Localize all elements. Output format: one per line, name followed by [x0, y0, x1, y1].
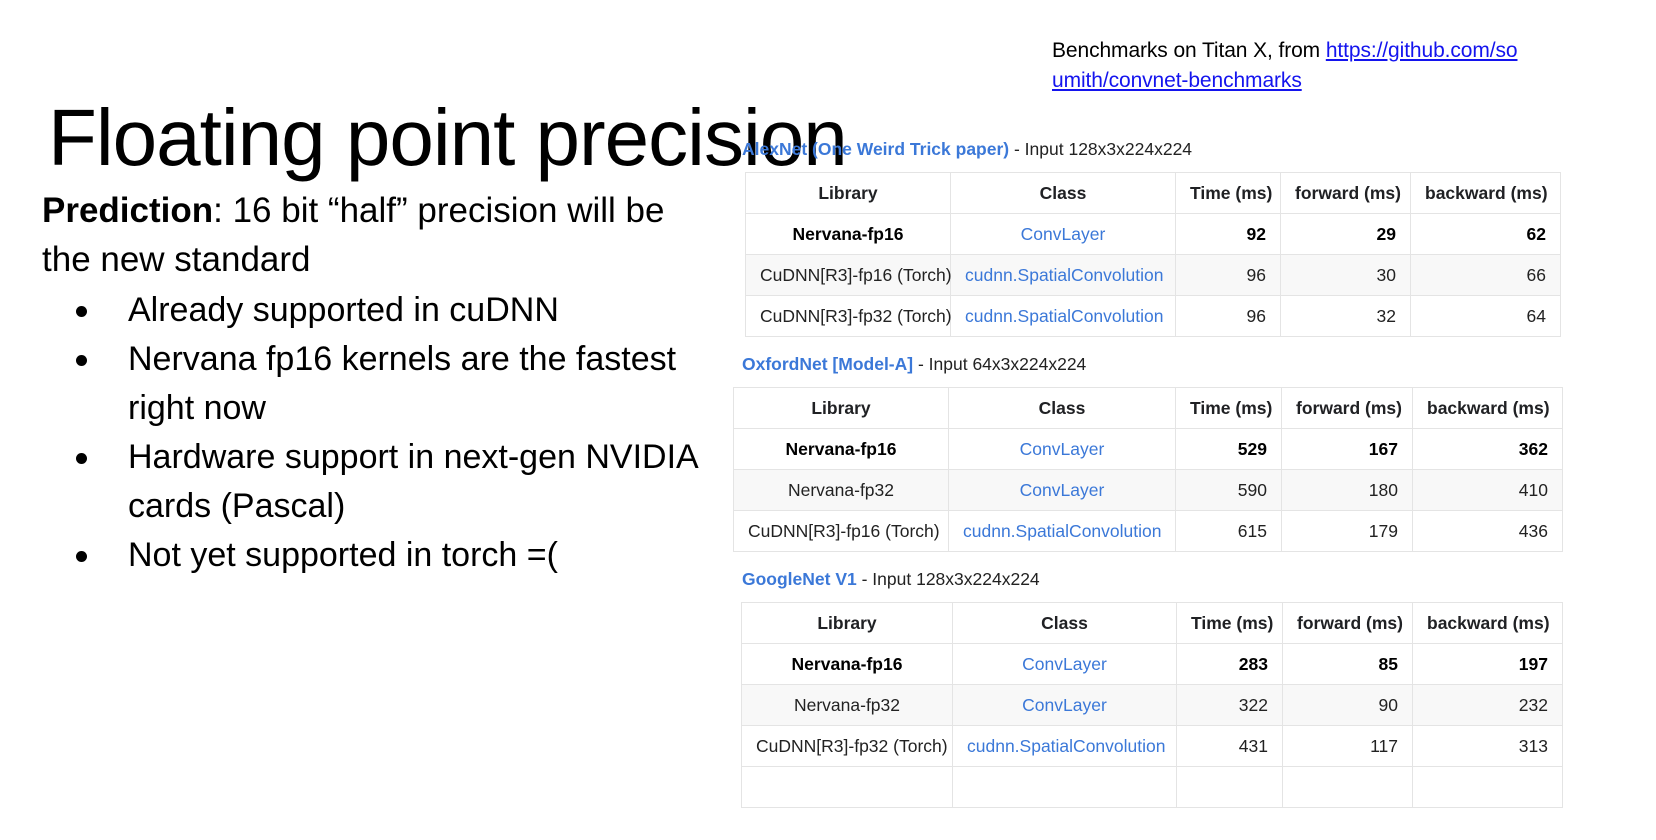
table-row: CuDNN[R3]-fp32 (Torch) cudnn.SpatialConv… — [742, 726, 1563, 767]
table-header-row: Library Class Time (ms) forward (ms) bac… — [734, 388, 1563, 429]
cell-library: Nervana-fp32 — [742, 685, 953, 726]
cell-library: Nervana-fp16 — [734, 429, 949, 470]
cell-class[interactable]: ConvLayer — [953, 685, 1177, 726]
cell-backward: 410 — [1413, 470, 1563, 511]
benchmark-net-name: OxfordNet [Model-A] — [742, 354, 913, 374]
table-row-partial — [742, 767, 1563, 808]
cell-time: 590 — [1176, 470, 1282, 511]
table-row: CuDNN[R3]-fp16 (Torch) cudnn.SpatialConv… — [734, 511, 1563, 552]
cell-backward: 232 — [1413, 685, 1563, 726]
list-item: Nervana fp16 kernels are the fastest rig… — [42, 335, 702, 433]
table-header-row: Library Class Time (ms) forward (ms) bac… — [746, 173, 1561, 214]
cell-forward: 167 — [1282, 429, 1413, 470]
benchmark-table: Library Class Time (ms) forward (ms) bac… — [733, 387, 1563, 552]
benchmark-tables-panel: AlexNet (One Weird Trick paper) - Input … — [725, 138, 1656, 840]
cell-time: 431 — [1177, 726, 1283, 767]
column-header-library: Library — [742, 603, 953, 644]
cell-time: 92 — [1176, 214, 1281, 255]
cell-library: Nervana-fp16 — [746, 214, 951, 255]
benchmark-caption: AlexNet (One Weird Trick paper) - Input … — [725, 138, 1656, 160]
bullet-dot-icon — [76, 453, 87, 464]
cell-class[interactable]: ConvLayer — [953, 644, 1177, 685]
list-item: Not yet supported in torch =( — [42, 531, 702, 580]
cell-forward: 32 — [1281, 296, 1411, 337]
cell-backward: 313 — [1413, 726, 1563, 767]
column-header-backward: backward (ms) — [1411, 173, 1561, 214]
body-content: Prediction: 16 bit “half” precision will… — [42, 186, 702, 580]
table-header-row: Library Class Time (ms) forward (ms) bac… — [742, 603, 1563, 644]
column-header-backward: backward (ms) — [1413, 603, 1563, 644]
benchmark-caption: GoogleNet V1 - Input 128x3x224x224 — [725, 568, 1656, 590]
bullet-dot-icon — [76, 355, 87, 366]
cell-forward: 85 — [1283, 644, 1413, 685]
benchmark-table: Library Class Time (ms) forward (ms) bac… — [741, 602, 1563, 808]
cell-class[interactable]: cudnn.SpatialConvolution — [951, 296, 1176, 337]
bullet-dot-icon — [76, 306, 87, 317]
column-header-library: Library — [746, 173, 951, 214]
cell-backward — [1413, 767, 1563, 808]
table-row: Nervana-fp16 ConvLayer 92 29 62 — [746, 214, 1561, 255]
column-header-forward: forward (ms) — [1282, 388, 1413, 429]
bullet-list: Already supported in cuDNN Nervana fp16 … — [42, 286, 702, 580]
cell-class[interactable]: ConvLayer — [951, 214, 1176, 255]
cell-backward: 62 — [1411, 214, 1561, 255]
cell-library: Nervana-fp16 — [742, 644, 953, 685]
list-item-label: Not yet supported in torch =( — [128, 536, 558, 574]
cell-library: CuDNN[R3]-fp16 (Torch) — [746, 255, 951, 296]
cell-class[interactable]: cudnn.SpatialConvolution — [953, 726, 1177, 767]
cell-forward: 179 — [1282, 511, 1413, 552]
cell-forward: 180 — [1282, 470, 1413, 511]
cell-time: 529 — [1176, 429, 1282, 470]
benchmark-caption: OxfordNet [Model-A] - Input 64x3x224x224 — [725, 353, 1656, 375]
list-item-label: Already supported in cuDNN — [128, 291, 559, 329]
cell-forward: 29 — [1281, 214, 1411, 255]
column-header-time: Time (ms) — [1176, 173, 1281, 214]
cell-library — [742, 767, 953, 808]
cell-time: 96 — [1176, 255, 1281, 296]
lead-paragraph: Prediction: 16 bit “half” precision will… — [42, 186, 702, 284]
benchmark-group-oxfordnet: OxfordNet [Model-A] - Input 64x3x224x224… — [725, 353, 1656, 552]
lead-bold-label: Prediction — [42, 191, 213, 230]
column-header-class: Class — [949, 388, 1176, 429]
cell-backward: 197 — [1413, 644, 1563, 685]
cell-backward: 66 — [1411, 255, 1561, 296]
cell-class[interactable]: cudnn.SpatialConvolution — [951, 255, 1176, 296]
cell-library: CuDNN[R3]-fp32 (Torch) — [746, 296, 951, 337]
list-item: Hardware support in next-gen NVIDIA card… — [42, 433, 702, 531]
cell-time: 96 — [1176, 296, 1281, 337]
cell-library: CuDNN[R3]-fp16 (Torch) — [734, 511, 949, 552]
cell-forward: 90 — [1283, 685, 1413, 726]
bullet-dot-icon — [76, 551, 87, 562]
cell-class — [953, 767, 1177, 808]
column-header-class: Class — [951, 173, 1176, 214]
benchmark-input-spec: - Input 64x3x224x224 — [913, 354, 1086, 374]
benchmark-group-alexnet: AlexNet (One Weird Trick paper) - Input … — [725, 138, 1656, 337]
cell-library: CuDNN[R3]-fp32 (Torch) — [742, 726, 953, 767]
column-header-time: Time (ms) — [1177, 603, 1283, 644]
benchmark-group-googlenet: GoogleNet V1 - Input 128x3x224x224 Libra… — [725, 568, 1656, 808]
benchmark-table: Library Class Time (ms) forward (ms) bac… — [745, 172, 1561, 337]
column-header-forward: forward (ms) — [1281, 173, 1411, 214]
benchmark-input-spec: - Input 128x3x224x224 — [857, 569, 1040, 589]
column-header-backward: backward (ms) — [1413, 388, 1563, 429]
cell-time — [1177, 767, 1283, 808]
cell-class[interactable]: cudnn.SpatialConvolution — [949, 511, 1176, 552]
benchmark-input-spec: - Input 128x3x224x224 — [1009, 139, 1192, 159]
cell-forward — [1283, 767, 1413, 808]
cell-class[interactable]: ConvLayer — [949, 470, 1176, 511]
cell-library: Nervana-fp32 — [734, 470, 949, 511]
table-row: Nervana-fp32 ConvLayer 322 90 232 — [742, 685, 1563, 726]
cell-time: 283 — [1177, 644, 1283, 685]
table-row: Nervana-fp32 ConvLayer 590 180 410 — [734, 470, 1563, 511]
cell-forward: 117 — [1283, 726, 1413, 767]
column-header-class: Class — [953, 603, 1177, 644]
table-row: CuDNN[R3]-fp32 (Torch) cudnn.SpatialConv… — [746, 296, 1561, 337]
column-header-library: Library — [734, 388, 949, 429]
list-item: Already supported in cuDNN — [42, 286, 702, 335]
column-header-time: Time (ms) — [1176, 388, 1282, 429]
column-header-forward: forward (ms) — [1283, 603, 1413, 644]
source-note: Benchmarks on Titan X, from https://gith… — [1052, 36, 1522, 96]
list-item-label: Hardware support in next-gen NVIDIA card… — [128, 438, 697, 525]
cell-backward: 436 — [1413, 511, 1563, 552]
list-item-label: Nervana fp16 kernels are the fastest rig… — [128, 340, 676, 427]
cell-time: 615 — [1176, 511, 1282, 552]
table-row: CuDNN[R3]-fp16 (Torch) cudnn.SpatialConv… — [746, 255, 1561, 296]
cell-forward: 30 — [1281, 255, 1411, 296]
table-row: Nervana-fp16 ConvLayer 529 167 362 — [734, 429, 1563, 470]
source-note-prefix: Benchmarks on Titan X, from — [1052, 39, 1326, 62]
benchmark-net-name: GoogleNet V1 — [742, 569, 857, 589]
table-row: Nervana-fp16 ConvLayer 283 85 197 — [742, 644, 1563, 685]
cell-time: 322 — [1177, 685, 1283, 726]
cell-backward: 362 — [1413, 429, 1563, 470]
benchmark-net-name: AlexNet (One Weird Trick paper) — [742, 139, 1009, 159]
cell-class[interactable]: ConvLayer — [949, 429, 1176, 470]
cell-backward: 64 — [1411, 296, 1561, 337]
